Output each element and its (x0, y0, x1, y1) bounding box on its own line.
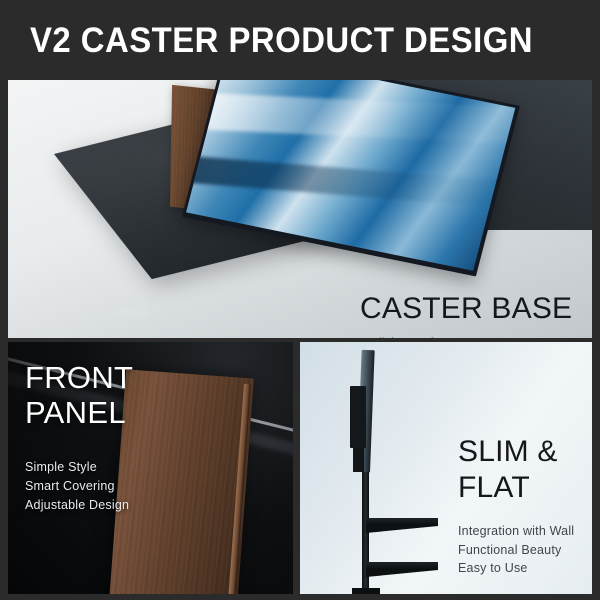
page-title: V2 CASTER PRODUCT DESIGN (30, 21, 533, 61)
front-panel-feature-list: Simple Style Smart Covering Adjustable D… (25, 458, 133, 515)
slim-flat-feature-list: Integration with Wall Functional Beauty … (458, 522, 574, 578)
product-design-poster: V2 CASTER PRODUCT DESIGN CASTER BASE Sty… (0, 0, 600, 600)
slim-flat-feature-3: Easy to Use (458, 559, 574, 578)
caster-base-feature-list: Stylish & Safety High Strength With low … (360, 334, 572, 338)
front-panel-feature-1: Simple Style (25, 458, 133, 477)
caster-base-logo-emboss (118, 308, 148, 317)
slim-flat-base-foot (352, 588, 380, 594)
slim-flat-feature-2: Functional Beauty (458, 541, 574, 560)
caster-base-heading: CASTER BASE (360, 292, 572, 325)
front-panel-heading-line-2: PANEL (25, 395, 133, 430)
slim-flat-feature-1: Integration with Wall (458, 522, 574, 541)
slim-flat-shelf-upper (366, 518, 438, 526)
front-panel-feature-2: Smart Covering (25, 477, 133, 496)
slim-flat-heading-line-2: FLAT (458, 470, 574, 506)
panel-caster-base: CASTER BASE Stylish & Safety High Streng… (8, 80, 592, 338)
slim-flat-heading-line-1: SLIM & (458, 434, 574, 470)
poster-header: V2 CASTER PRODUCT DESIGN (0, 0, 600, 78)
front-panel-heading-line-1: FRONT (25, 360, 133, 395)
caster-base-text-block: CASTER BASE Stylish & Safety High Streng… (360, 292, 572, 338)
slim-flat-shelf-lower (366, 562, 438, 570)
caster-base-feature-1: Stylish & Safety (360, 334, 572, 338)
panel-slim-flat: SLIM & FLAT Integration with Wall Functi… (300, 342, 592, 594)
slim-flat-mount-bracket (350, 386, 366, 448)
slim-flat-mount-bracket-lower (353, 448, 364, 472)
slim-flat-text-block: SLIM & FLAT Integration with Wall Functi… (458, 434, 574, 578)
panel-front-panel: FRONT PANEL Simple Style Smart Covering … (8, 342, 293, 594)
front-panel-heading: FRONT PANEL (25, 360, 133, 430)
slim-flat-heading: SLIM & FLAT (458, 434, 574, 506)
front-panel-feature-3: Adjustable Design (25, 496, 133, 515)
front-panel-text-block: FRONT PANEL Simple Style Smart Covering … (25, 360, 133, 515)
